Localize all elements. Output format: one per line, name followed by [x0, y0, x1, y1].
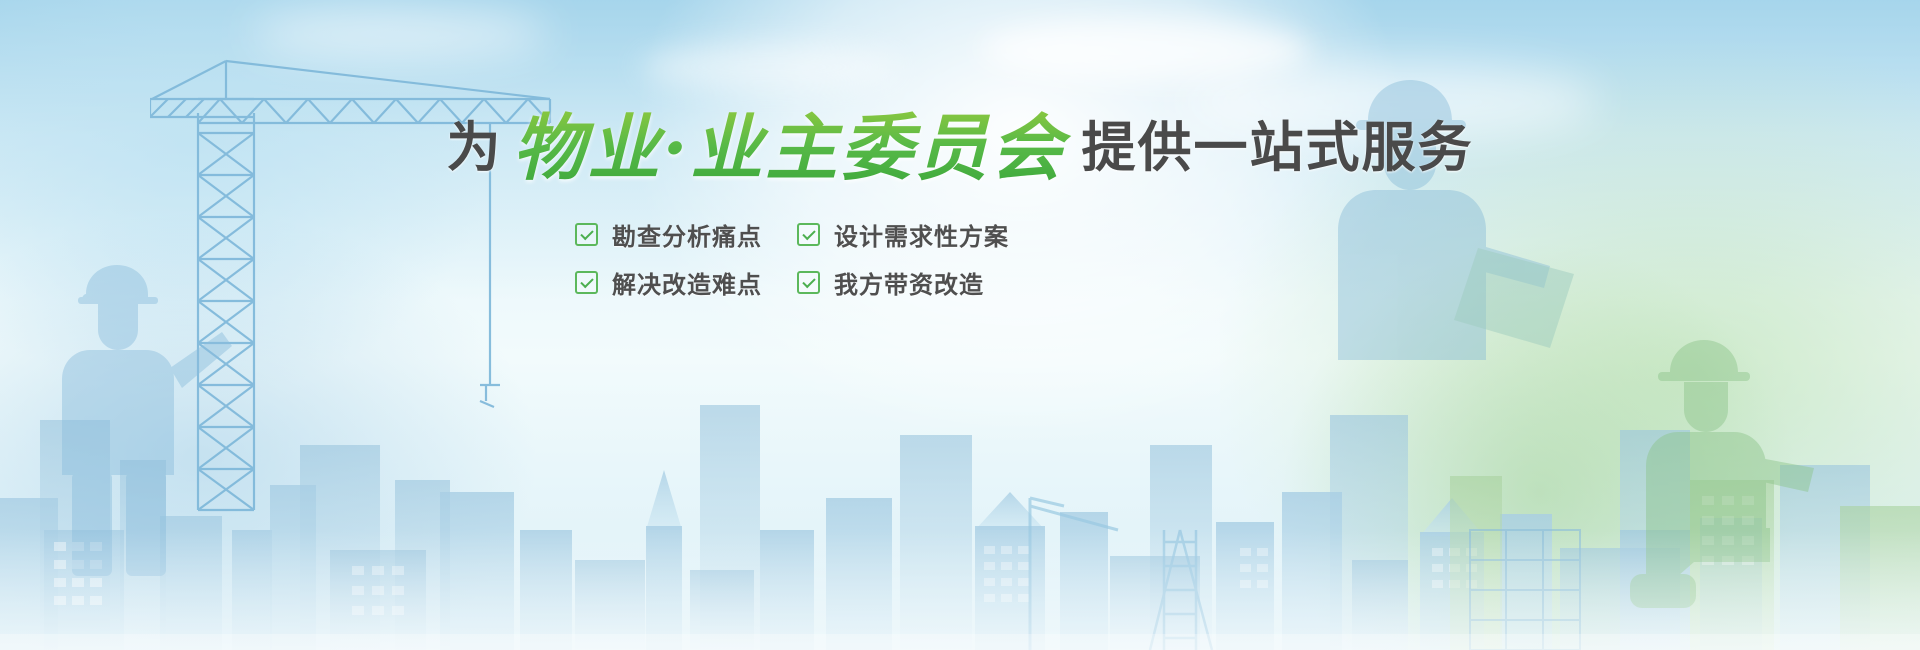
page-title: 为物业·业主委员会提供一站式服务: [0, 112, 1920, 184]
check-box-icon[interactable]: [797, 223, 820, 246]
checklist-row: 勘查分析痛点 设计需求性方案: [575, 210, 1035, 258]
checklist-item-0-0[interactable]: 勘查分析痛点: [575, 217, 797, 252]
checklist-item-label: 我方带资改造: [834, 265, 984, 300]
check-box-icon[interactable]: [575, 271, 598, 294]
headline-highlight: 物业·业主委员会: [502, 105, 1075, 190]
checklist-item-0-1[interactable]: 设计需求性方案: [797, 217, 1009, 252]
checklist-item-label: 解决改造难点: [612, 265, 762, 300]
check-box-icon[interactable]: [575, 223, 598, 246]
check-box-icon[interactable]: [797, 271, 820, 294]
checklist-item-1-1[interactable]: 我方带资改造: [797, 265, 984, 300]
checklist-item-label: 设计需求性方案: [834, 217, 1009, 252]
hero-banner: 为物业·业主委员会提供一站式服务 勘查分析痛点 设计需求性方案 解决改造难点 我…: [0, 0, 1920, 650]
bottom-fade: [0, 530, 1920, 650]
checklist-item-1-0[interactable]: 解决改造难点: [575, 265, 797, 300]
checklist-item-label: 勘查分析痛点: [612, 217, 762, 252]
headline-suffix: 提供一站式服务: [1082, 116, 1474, 179]
headline-prefix: 为: [446, 116, 502, 179]
cloud-icon: [980, 18, 1310, 82]
cloud-icon: [250, 8, 550, 60]
cloud-icon: [640, 44, 900, 90]
feature-checklist: 勘查分析痛点 设计需求性方案 解决改造难点 我方带资改造: [575, 210, 1035, 306]
checklist-row: 解决改造难点 我方带资改造: [575, 258, 1035, 306]
